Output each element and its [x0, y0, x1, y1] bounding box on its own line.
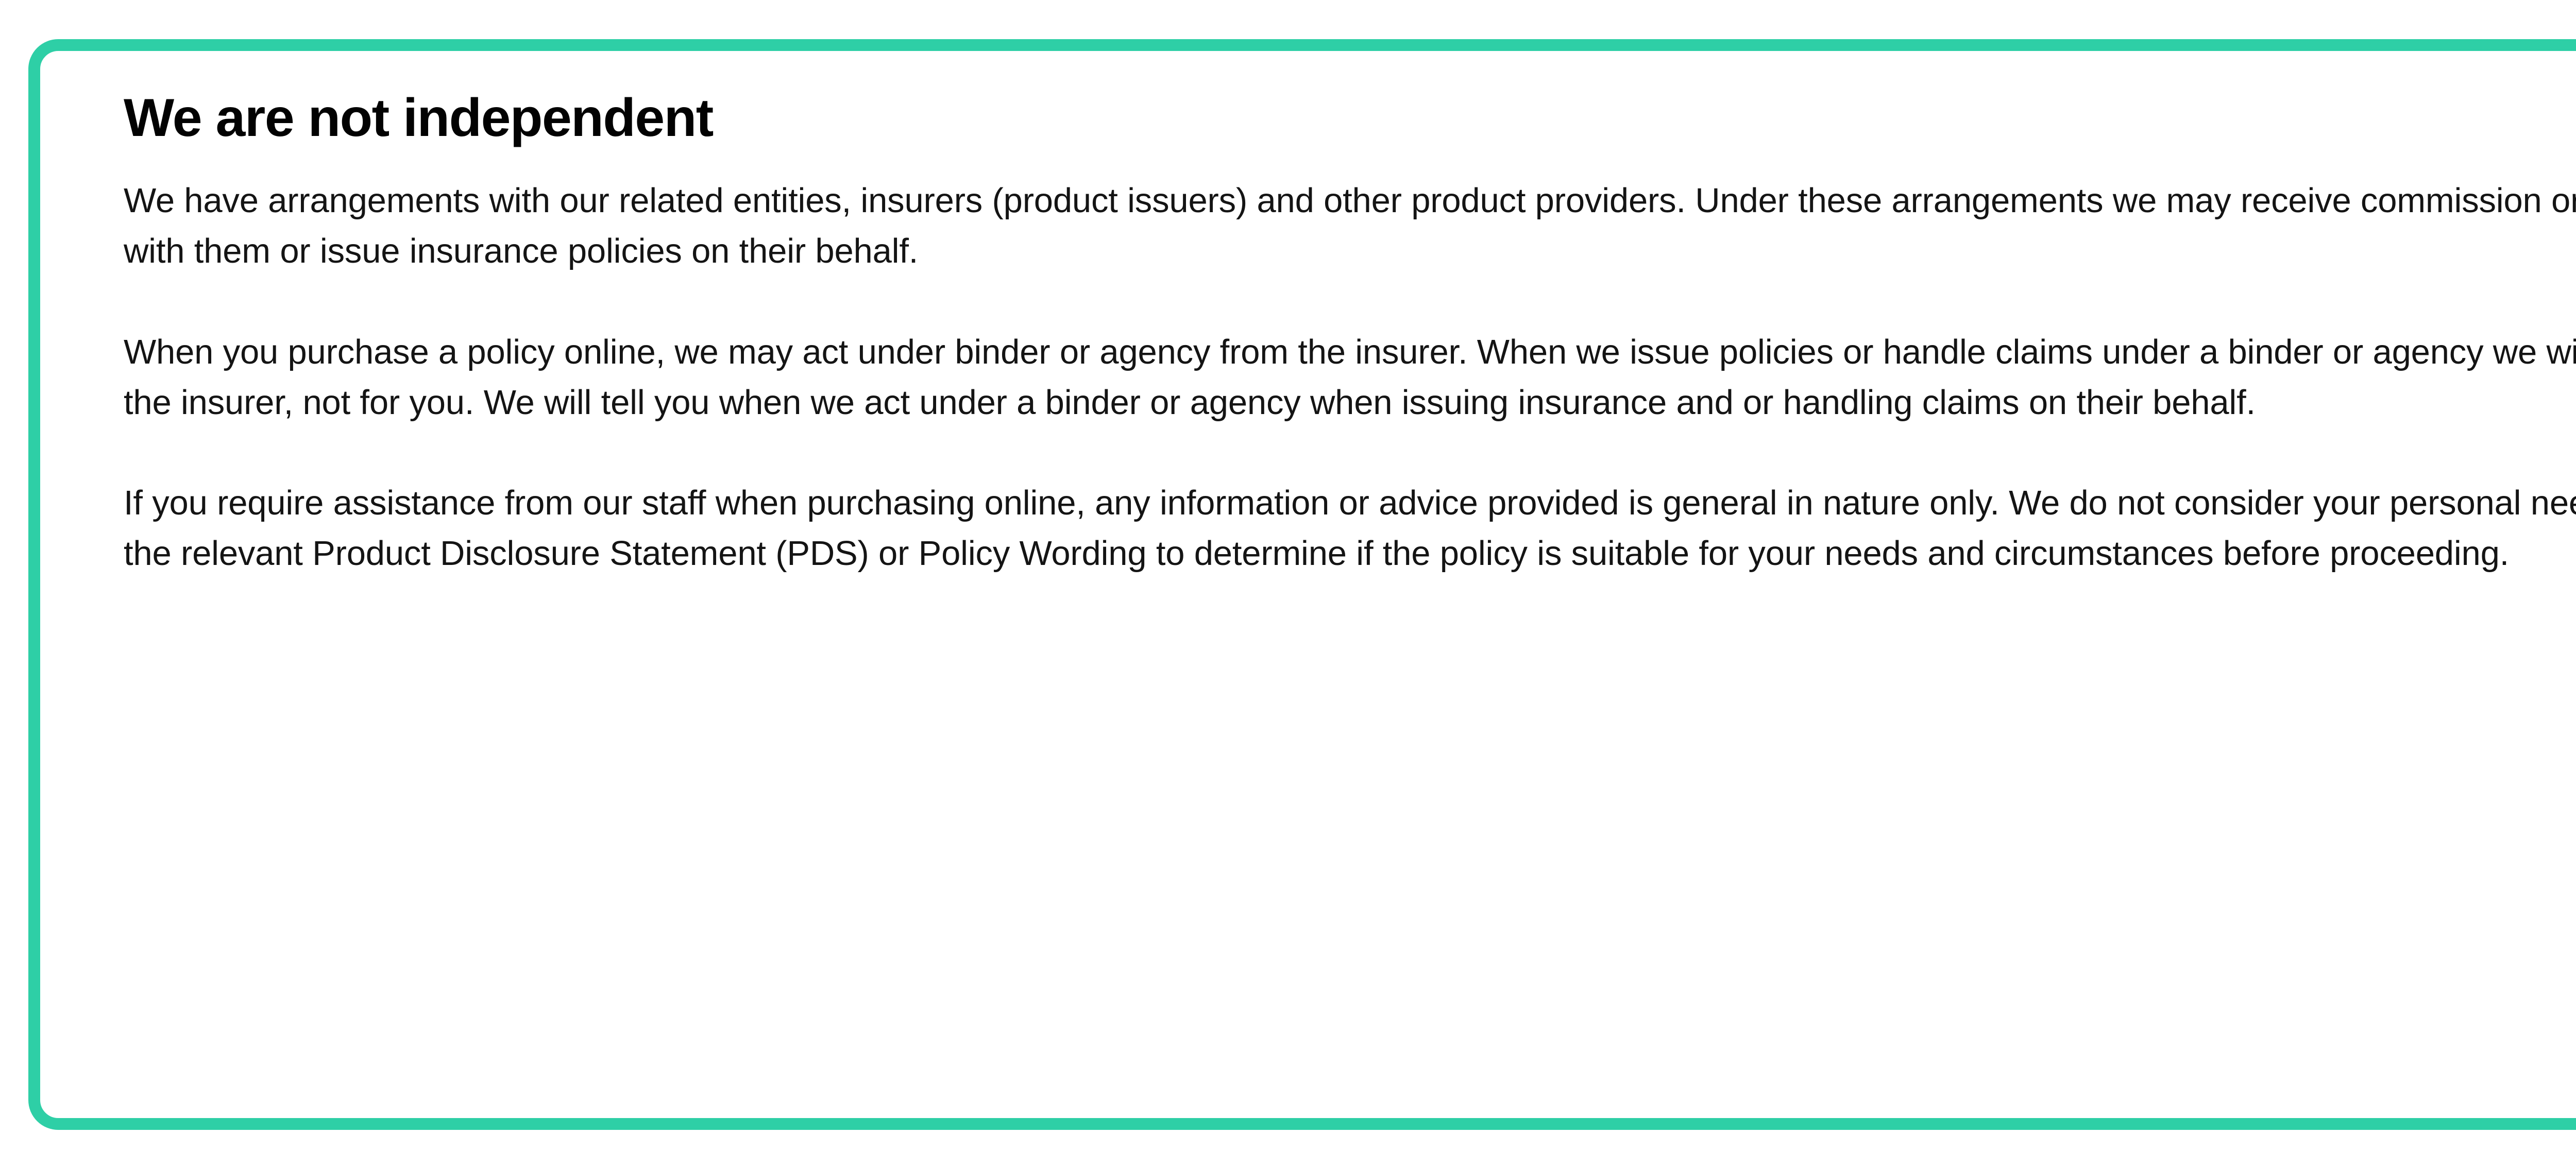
disclosure-body: We have arrangements with our related en… [124, 176, 2576, 579]
page-root: We are not independent We have arrangeme… [0, 0, 2576, 1168]
disclosure-paragraph-3: If you require assistance from our staff… [124, 478, 2576, 579]
disclosure-paragraph-1: We have arrangements with our related en… [124, 176, 2576, 277]
disclosure-paragraph-2: When you purchase a policy online, we ma… [124, 327, 2576, 428]
disclosure-card-content: We are not independent We have arrangeme… [40, 51, 2576, 579]
page-title: We are not independent [124, 88, 2576, 148]
disclosure-card: We are not independent We have arrangeme… [28, 39, 2576, 1130]
